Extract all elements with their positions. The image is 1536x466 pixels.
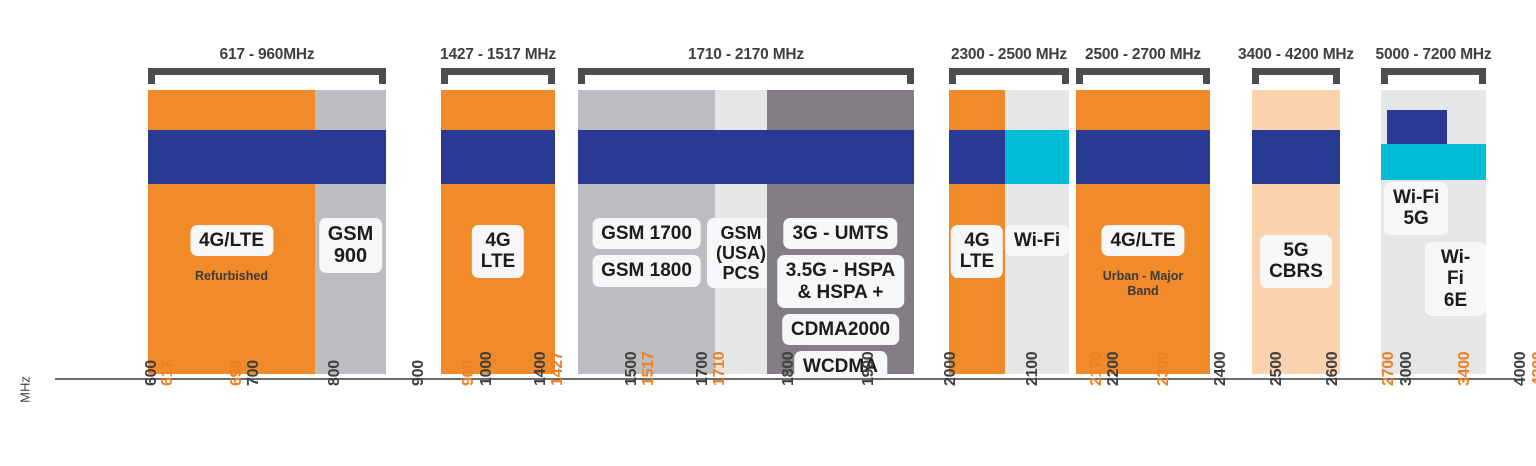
bracket-label: 2500 - 2700 MHz (1085, 46, 1201, 64)
tick-900: 900 (410, 360, 428, 386)
band-label-chip: 5GCBRS (1260, 235, 1332, 288)
stripe-blue (148, 130, 386, 184)
band-label-stack: GSM(USA)PCS (707, 218, 775, 288)
bracket-1: 1427 - 1517 MHz (441, 46, 555, 86)
bracket-shape (1381, 68, 1486, 84)
tick-1400: 1400 (532, 352, 550, 386)
tick-700: 700 (245, 360, 263, 386)
bracket-2: 1710 - 2170 MHz (578, 46, 914, 86)
band-label-chip: CDMA2000 (782, 314, 899, 345)
group-2500-2700: 4G/LTEUrban - MajorBand (1076, 90, 1210, 374)
band-label-chip: 3G - UMTS (783, 218, 897, 249)
tick-1710: 1710 (711, 352, 729, 386)
band-label-stack: 4GLTE (951, 225, 1003, 278)
bracket-5: 3400 - 4200 MHz (1252, 46, 1340, 86)
band-sublabel: Refurbished (195, 269, 268, 284)
band-label-chip: 4G/LTE (1101, 225, 1184, 256)
tick-2000: 2000 (942, 352, 960, 386)
bracket-label: 617 - 960MHz (220, 46, 315, 64)
tick-1500: 1500 (623, 352, 641, 386)
tick-2170: 2170 (1088, 352, 1106, 386)
band-label-chip: Wi-Fi (1005, 225, 1069, 256)
tick-2700: 2700 (1380, 352, 1398, 386)
tick-2400: 2400 (1212, 352, 1230, 386)
group-3400-4200: 5GCBRS (1252, 90, 1340, 374)
bracket-label: 3400 - 4200 MHz (1238, 46, 1354, 64)
tick-2100: 2100 (1024, 352, 1042, 386)
tick-2500: 2500 (1268, 352, 1286, 386)
band-label-stack: 4GLTE (472, 225, 524, 278)
stripe-blue (1076, 130, 1210, 184)
axis-unit-label: MHz (18, 367, 33, 413)
band-label-chip: 4GLTE (951, 225, 1003, 278)
tick-1800: 1800 (780, 352, 798, 386)
bracket-label: 1710 - 2170 MHz (688, 46, 804, 64)
tick-1700: 1700 (694, 352, 712, 386)
band-label-chip: GSM 1700 (592, 218, 701, 249)
tick-960: 960 (460, 360, 478, 386)
stripe-blue (1252, 130, 1340, 184)
band-label-chip: GSM(USA)PCS (707, 218, 775, 288)
tick-2300: 2300 (1155, 352, 1173, 386)
bracket-0: 617 - 960MHz (148, 46, 386, 86)
group-1427-1517: 4GLTE (441, 90, 555, 374)
bracket-label: 2300 - 2500 MHz (951, 46, 1067, 64)
stripe-cyan (1381, 144, 1486, 180)
chip-wifi-6e: Wi-Fi6E (1425, 242, 1486, 316)
tick-2200: 2200 (1105, 352, 1123, 386)
band-label-chip: 4G/LTE (190, 225, 273, 256)
tick-617: 617 (159, 360, 177, 386)
band-label-chip: GSM 1800 (592, 255, 701, 286)
bracket-4: 2500 - 2700 MHz (1076, 46, 1210, 86)
band-label-stack: GSM900 (319, 218, 383, 273)
tick-4000: 4000 (1512, 352, 1530, 386)
tick-1517: 1517 (640, 352, 658, 386)
band-sublabel: Urban - MajorBand (1103, 269, 1184, 299)
bracket-label: 1427 - 1517 MHz (440, 46, 556, 64)
band-label-chip: 4GLTE (472, 225, 524, 278)
tick-3400: 3400 (1456, 352, 1474, 386)
tick-2600: 2600 (1324, 352, 1342, 386)
stripe-blue (441, 130, 555, 184)
tick-698: 698 (228, 360, 246, 386)
band-label-chip: 3.5G - HSPA& HSPA + (777, 255, 904, 308)
tick-3000: 3000 (1398, 352, 1416, 386)
stripe-cyan (1005, 130, 1069, 184)
band-label-stack: 5GCBRS (1260, 235, 1332, 288)
bracket-shape (1252, 68, 1340, 84)
tick-1900: 1900 (860, 352, 878, 386)
bracket-shape (949, 68, 1069, 84)
tick-1427: 1427 (549, 352, 567, 386)
bracket-6: 5000 - 7200 MHz (1381, 46, 1486, 86)
tick-800: 800 (326, 360, 344, 386)
tick-1000: 1000 (478, 352, 496, 386)
spectrum-chart: 617 - 960MHz1427 - 1517 MHz1710 - 2170 M… (0, 0, 1536, 466)
bracket-shape (578, 68, 914, 84)
bracket-label: 5000 - 7200 MHz (1376, 46, 1492, 64)
stripe-blue (578, 130, 914, 184)
group-5000-7200: Wi-Fi5GWi-Fi6E (1381, 90, 1486, 374)
band-label-stack: GSM 1700GSM 1800 (592, 218, 701, 287)
chip-wifi-5g: Wi-Fi5G (1384, 182, 1448, 235)
tick-4200: 4200 (1530, 352, 1536, 386)
band-label-stack: 4G/LTEUrban - MajorBand (1101, 225, 1184, 299)
group-2300-2500: 4GLTEWi-Fi (949, 90, 1069, 374)
bracket-3: 2300 - 2500 MHz (949, 46, 1069, 86)
band-label-stack: Wi-Fi (1005, 225, 1069, 256)
group-617-960: 4G/LTERefurbishedGSM900 (148, 90, 386, 374)
bracket-shape (441, 68, 555, 84)
group-1710-2170: GSM 1700GSM 1800GSM(USA)PCS3G - UMTS3.5G… (578, 90, 914, 374)
band-label-chip: GSM900 (319, 218, 383, 273)
bracket-shape (148, 68, 386, 84)
bracket-shape (1076, 68, 1210, 84)
stripe-blue (949, 130, 1005, 184)
band-label-stack: 4G/LTERefurbished (190, 225, 273, 284)
stripe-blue (1387, 110, 1447, 144)
